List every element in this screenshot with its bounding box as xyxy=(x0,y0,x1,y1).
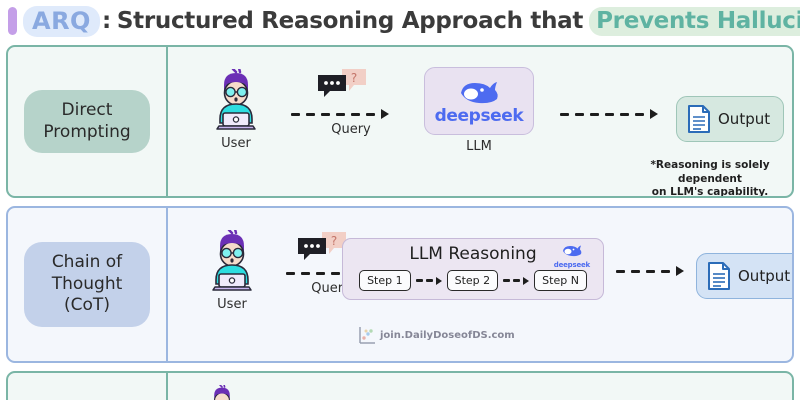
chat-bubble-icon xyxy=(318,75,346,97)
step-chip-3[interactable]: Step N xyxy=(534,270,587,291)
user-avatar-icon xyxy=(206,69,266,131)
row-direct-prompting: Direct Prompting xyxy=(6,45,794,198)
title-highlight-text: Prevents Hallucinations xyxy=(589,7,800,36)
llm-caption: LLM xyxy=(424,139,534,154)
document-icon xyxy=(686,104,712,134)
row-label-line1: Direct xyxy=(36,100,138,122)
document-icon xyxy=(706,261,732,291)
title-separator: : xyxy=(102,8,111,34)
output-box-direct[interactable]: Output xyxy=(676,96,784,142)
svg-text:?: ? xyxy=(351,71,357,85)
llm-reasoning-box[interactable]: LLM Reasoning deepseek Step 1 Step 2 xyxy=(342,238,604,300)
chat-bubble-icon xyxy=(298,238,326,260)
reasoning-steps: Step 1 Step 2 Step N xyxy=(343,270,603,291)
svg-text:?: ? xyxy=(331,234,337,248)
row-label-line2: Prompting xyxy=(36,122,138,144)
output-label-direct: Output xyxy=(718,110,770,128)
step-chip-1[interactable]: Step 1 xyxy=(359,270,411,291)
user-block-cot: User xyxy=(196,230,268,312)
output-box-cot[interactable]: Output xyxy=(696,253,794,299)
deepseek-whale-icon xyxy=(457,77,501,107)
row-flow-direct: User ? xyxy=(168,47,792,196)
deepseek-mini-wordmark: deepseek xyxy=(554,261,590,269)
deepseek-mini-logo: deepseek xyxy=(554,243,590,269)
row-chain-of-thought: Chain of Thought (CoT) xyxy=(6,206,794,363)
arrow-right-icon xyxy=(501,277,531,285)
user-caption-cot: User xyxy=(196,297,268,312)
row-third-partial xyxy=(6,371,794,400)
watermark: join.DailyDoseofDS.com xyxy=(358,326,515,344)
footnote-line1: *Reasoning is solely dependent xyxy=(620,159,794,186)
arrow-label-query-direct: Query xyxy=(291,122,411,137)
row-label-cell-third xyxy=(8,373,168,400)
output-label-cot: Output xyxy=(738,267,790,285)
watermark-text: join.DailyDoseofDS.com xyxy=(380,330,515,341)
deepseek-whale-icon xyxy=(561,243,583,258)
dailydoseofds-logo-icon xyxy=(358,326,376,344)
row-label-line3: (CoT) xyxy=(36,295,138,317)
arrow-right-icon xyxy=(414,277,444,285)
deepseek-wordmark: deepseek xyxy=(435,106,524,126)
row-label-line2: Thought xyxy=(36,274,138,296)
accent-bar-icon xyxy=(8,7,17,35)
row-label-chip-direct: Direct Prompting xyxy=(24,90,150,154)
user-avatar-partial-icon xyxy=(202,385,242,400)
infographic-page: ARQ : Structured Reasoning Approach that… xyxy=(0,0,800,400)
page-title: ARQ : Structured Reasoning Approach that… xyxy=(0,0,800,42)
arrow-right-icon xyxy=(616,266,684,276)
llm-box-deepseek[interactable]: deepseek xyxy=(424,67,534,135)
step-chip-2[interactable]: Step 2 xyxy=(447,270,499,291)
user-avatar-icon xyxy=(202,230,262,292)
footnote-direct: *Reasoning is solely dependent on LLM's … xyxy=(620,159,794,198)
arq-badge: ARQ xyxy=(23,6,100,37)
row-label-chip-cot: Chain of Thought (CoT) xyxy=(24,242,150,327)
row-label-line1: Chain of xyxy=(36,252,138,274)
user-caption-direct: User xyxy=(200,136,272,151)
user-block-direct: User xyxy=(200,69,272,151)
arrow-output-cot xyxy=(616,266,684,276)
title-main-text: Structured Reasoning Approach that xyxy=(117,8,583,34)
row-flow-third xyxy=(168,373,792,400)
arrow-right-icon xyxy=(291,109,411,119)
row-label-cell-direct: Direct Prompting xyxy=(8,47,168,196)
footnote-line2: on LLM's capability. xyxy=(620,186,794,198)
arrow-query-direct: Query xyxy=(291,109,411,137)
arrow-right-icon xyxy=(560,109,658,119)
row-label-cell-cot: Chain of Thought (CoT) xyxy=(8,208,168,361)
row-flow-cot: User ? xyxy=(168,208,792,361)
arrow-output-direct xyxy=(560,109,658,119)
query-bubbles-direct: ? xyxy=(316,67,370,105)
